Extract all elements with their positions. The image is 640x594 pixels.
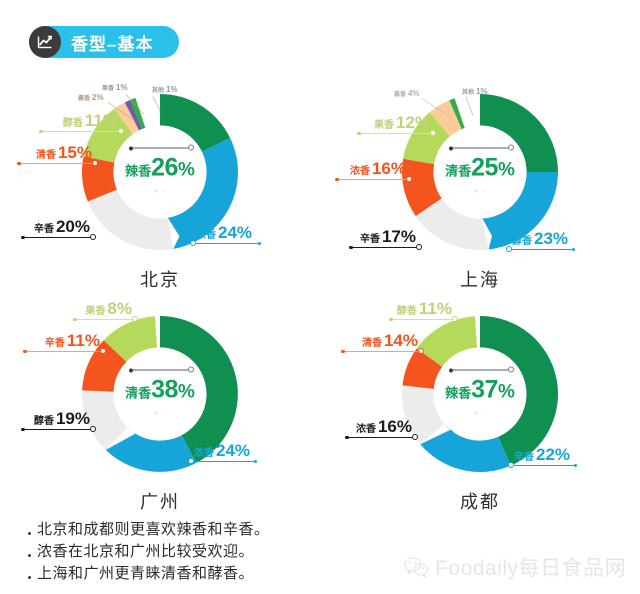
watermark-text: Foodaily每日食品网 (435, 552, 626, 582)
callout-chengdu-3: 醇香11% (390, 300, 452, 320)
header-pill: 香型–基本 (29, 26, 179, 58)
bullet-dot-icon (28, 554, 31, 557)
callout-rule (358, 133, 430, 134)
callout-shanghai-1: 辛香17% (350, 228, 416, 248)
callout-rule (196, 243, 260, 244)
callout-rule (512, 249, 574, 250)
callout-guangzhou-3: 果香8% (74, 300, 132, 320)
slice-beijing-2 (88, 190, 174, 250)
callout-rule (22, 237, 90, 238)
callout-beijing-1: 辛香20% (22, 218, 90, 238)
bullet-text: 北京和成都则更喜欢辣香和辛香。 (37, 518, 270, 539)
chart-row-top: 辣香26% ✳︎ ⎯ 浓香24% 辛香20% 清香15% 醇香11% (0, 72, 640, 294)
callout-guangzhou-1: 醇香19% (22, 410, 90, 430)
bullet-text: 上海和广州更青睐清香和酵香。 (37, 562, 254, 583)
watermark: Foodaily每日食品网 (404, 552, 626, 582)
slice-shanghai-0 (480, 94, 558, 172)
chart-row-bottom: 清香38% ✳︎ ⎯ 浓香24% 醇香19% 辛香11% 果香8% 广州 (0, 294, 640, 516)
summary-bullets: 北京和成都则更喜欢辣香和辛香。 浓香在北京和广州比较受欢迎。 上海和广州更青睐清… (28, 517, 270, 583)
city-name-shanghai: 上海 (320, 266, 640, 292)
callout-rule (74, 319, 132, 320)
city-name-chengdu: 成都 (320, 488, 640, 514)
callout-beijing-3: 醇香11% (40, 112, 118, 132)
callout-chengdu-2: 清香14% (342, 332, 418, 352)
callout-rule (22, 429, 90, 430)
list-item: 北京和成都则更喜欢辣香和辛香。 (28, 517, 270, 539)
bullet-dot-icon (28, 532, 31, 535)
callout-rule (18, 163, 92, 164)
donut-chart-chengdu: 辣香37% ✳︎ ⎯ 辛香22% 浓香16% 清香14% 醇香11% 成都 (320, 294, 640, 516)
callout-rule (514, 465, 576, 466)
callout-shanghai-3: 果香12% (358, 114, 430, 134)
city-name-beijing: 北京 (0, 266, 320, 292)
callout-guangzhou-2: 辛香11% (24, 332, 100, 352)
callout-chengdu-1: 浓香16% (346, 418, 412, 438)
callout-beijing-6: 其他1% (152, 86, 178, 94)
callout-shanghai-0: 醇香23% (512, 230, 574, 250)
callout-shanghai-5: 其他1% (462, 88, 488, 96)
callout-guangzhou-0: 浓香24% (194, 442, 256, 462)
bullet-text: 浓香在北京和广州比较受欢迎。 (37, 540, 254, 561)
callout-shanghai-4: 酱香4% (394, 90, 420, 98)
list-item: 上海和广州更青睐清香和酵香。 (28, 561, 270, 583)
callout-beijing-5: 果香1% (102, 84, 128, 92)
donut-chart-guangzhou: 清香38% ✳︎ ⎯ 浓香24% 醇香19% 辛香11% 果香8% 广州 (0, 294, 320, 516)
bullet-dot-icon (28, 576, 31, 579)
list-item: 浓香在北京和广州比较受欢迎。 (28, 539, 270, 561)
callout-rule (390, 319, 452, 320)
callout-beijing-0: 浓香24% (196, 224, 260, 244)
callout-rule (336, 179, 406, 180)
chart-line-icon (29, 26, 61, 58)
callout-rule (342, 351, 418, 352)
callout-beijing-4: 酱香2% (78, 94, 104, 102)
callout-rule (350, 247, 416, 248)
donut-chart-beijing: 辣香26% ✳︎ ⎯ 浓香24% 辛香20% 清香15% 醇香11% (0, 72, 320, 294)
callout-rule (40, 131, 118, 132)
slice-beijing-0 (160, 94, 230, 152)
callout-chengdu-0: 辛香22% (514, 446, 576, 466)
header-title: 香型–基本 (71, 30, 153, 55)
callout-beijing-2: 清香15% (18, 144, 92, 164)
charts-grid: 辣香26% ✳︎ ⎯ 浓香24% 辛香20% 清香15% 醇香11% (0, 72, 640, 516)
wechat-icon (404, 556, 435, 578)
callout-shanghai-2: 浓香16% (336, 160, 406, 180)
callout-rule (24, 351, 100, 352)
donut-chart-shanghai: 清香25% ✳︎ ⎯ 醇香23% 辛香17% 浓香16% 果香12% (320, 72, 640, 294)
callout-rule (194, 461, 256, 462)
city-name-guangzhou: 广州 (0, 488, 320, 514)
callout-rule (346, 437, 412, 438)
